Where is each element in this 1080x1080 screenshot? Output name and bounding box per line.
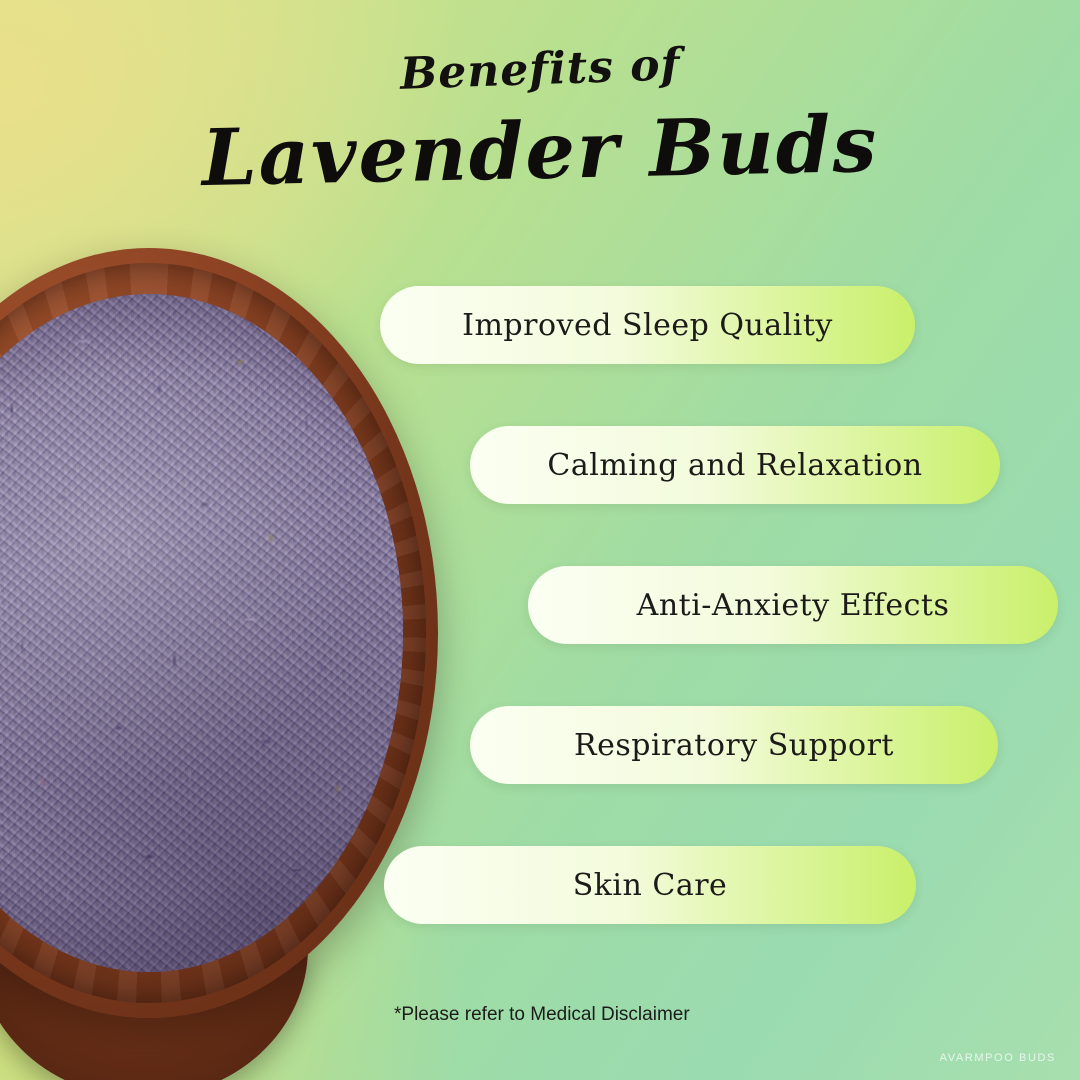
bowl-interior bbox=[0, 294, 403, 972]
page-title: Benefits of Lavender Buds bbox=[0, 44, 1080, 193]
benefit-label: Respiratory Support bbox=[574, 728, 894, 763]
benefit-label: Anti-Anxiety Effects bbox=[637, 588, 950, 623]
buds-shading-overlay bbox=[0, 294, 403, 972]
medical-disclaimer-note: *Please refer to Medical Disclaimer bbox=[394, 1004, 690, 1026]
title-line-1: Benefits of bbox=[399, 39, 681, 100]
poster: Benefits of Lavender Buds Improved Sleep… bbox=[0, 0, 1080, 1080]
benefit-item: Calming and Relaxation bbox=[470, 426, 1000, 504]
benefit-label: Improved Sleep Quality bbox=[462, 308, 833, 343]
benefit-item: Improved Sleep Quality bbox=[380, 286, 915, 364]
benefit-item: Skin Care bbox=[384, 846, 916, 924]
brand-watermark: AVARMPOO BUDS bbox=[940, 1052, 1056, 1064]
benefits-list: Improved Sleep Quality Calming and Relax… bbox=[380, 286, 1040, 924]
benefit-item: Anti-Anxiety Effects bbox=[528, 566, 1058, 644]
benefit-item: Respiratory Support bbox=[470, 706, 998, 784]
benefit-label: Calming and Relaxation bbox=[547, 448, 922, 483]
title-line-2: Lavender Buds bbox=[0, 100, 1080, 204]
wooden-bowl bbox=[0, 248, 438, 1018]
benefit-label: Skin Care bbox=[573, 868, 728, 903]
bowl-of-dried-lavender-buds-image bbox=[0, 248, 440, 1080]
